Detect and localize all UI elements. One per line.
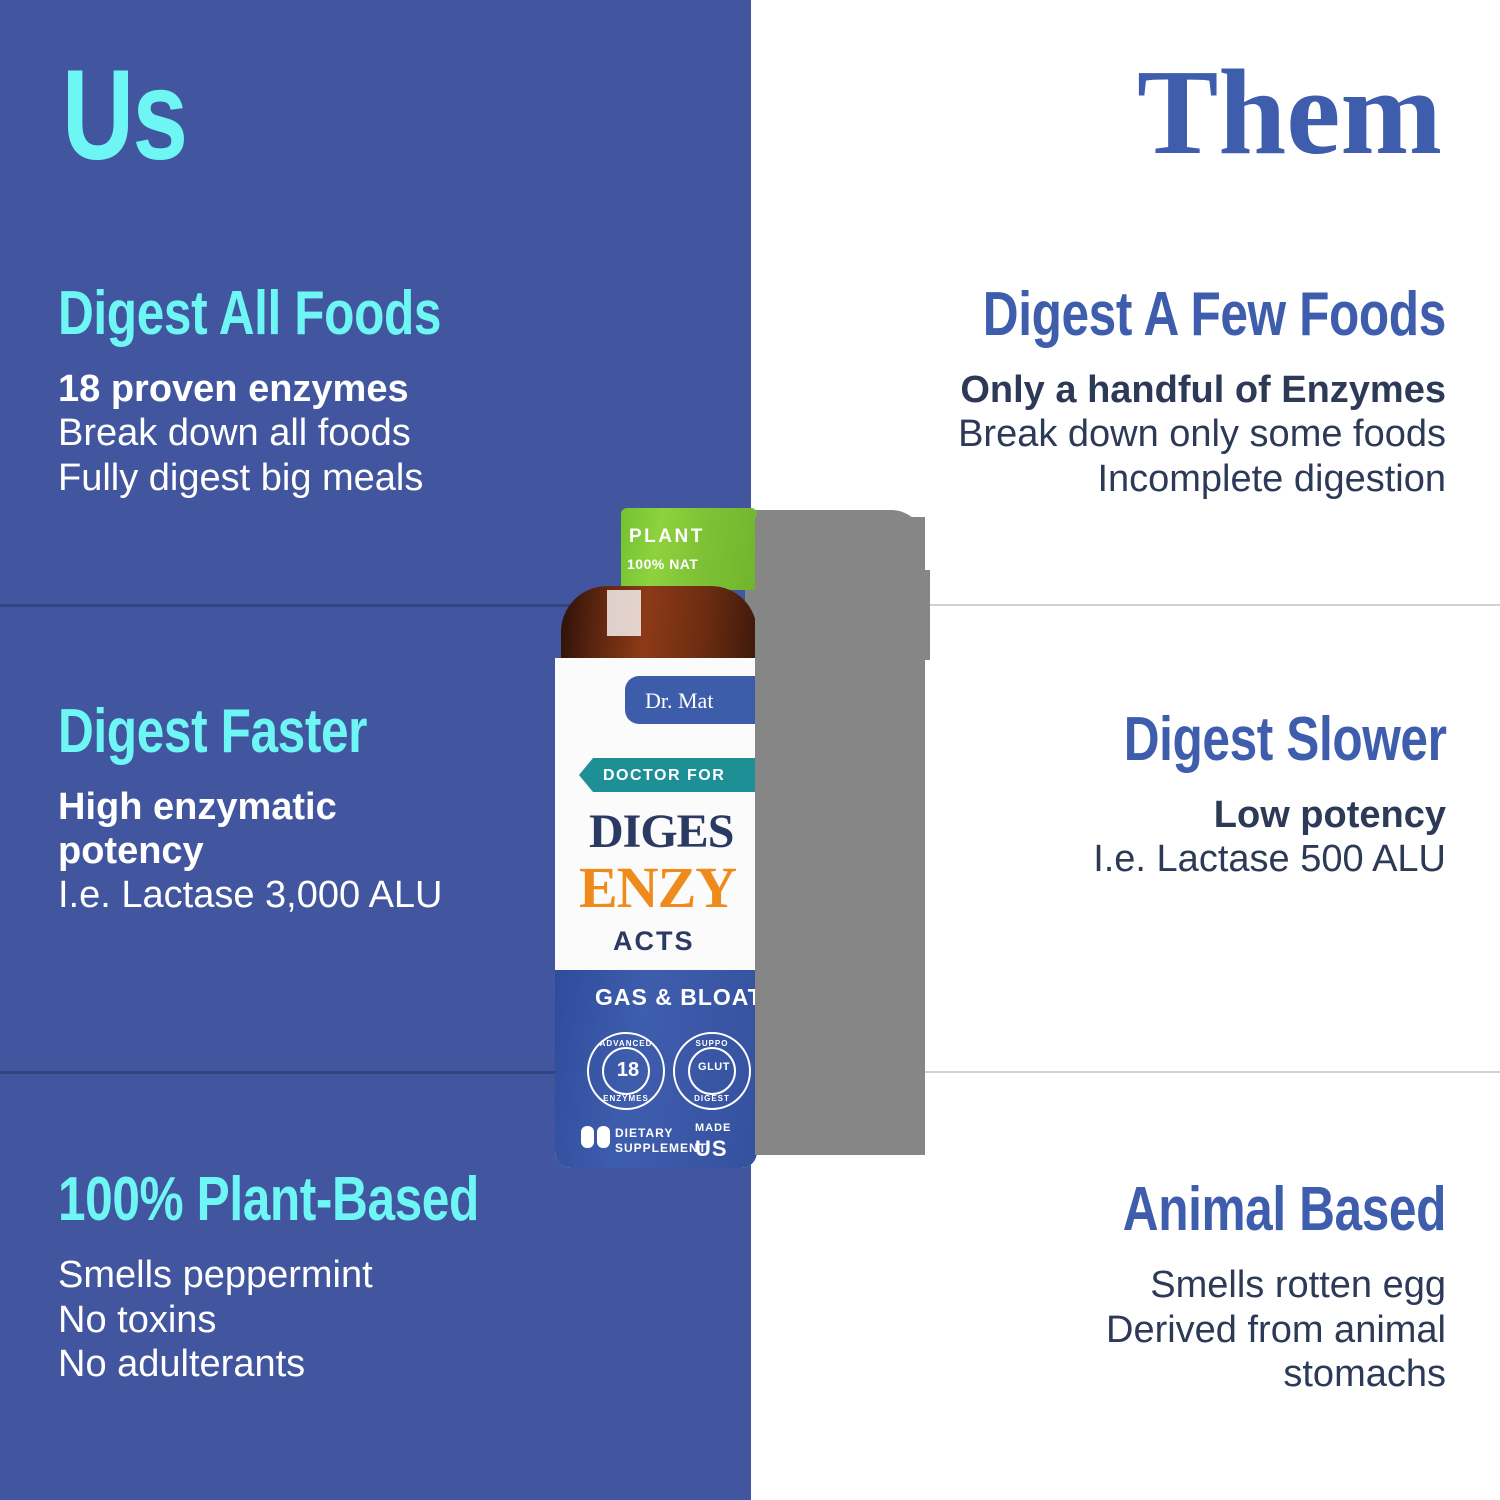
- product-image: PLANT 100% NAT Dr. Mat DOCTOR FOR DIGES …: [540, 500, 960, 1180]
- made-in-text: MADE: [695, 1122, 731, 1134]
- them-feature-1-line-1: Break down only some foods: [867, 412, 1446, 456]
- cap-text-plant: PLANT: [629, 526, 759, 548]
- label-title-digest: DIGES: [589, 804, 733, 859]
- us-feature-3: 100% Plant-Based Smells peppermint No to…: [58, 1168, 584, 1387]
- us-feature-2-heading: Digest Faster: [58, 700, 434, 763]
- seal-1-inner-ring: 18: [602, 1047, 650, 1095]
- them-feature-3: Animal Based Smells rotten egg Derived f…: [886, 1178, 1446, 1397]
- usa-text: US: [695, 1136, 728, 1162]
- them-title: Them: [1137, 52, 1442, 174]
- them-feature-2-line-1: I.e. Lactase 500 ALU: [1043, 837, 1447, 881]
- us-feature-2-bold-2: potency: [58, 829, 528, 873]
- them-feature-1-bold: Only a handful of Enzymes: [867, 368, 1446, 412]
- them-feature-2-heading: Digest Slower: [1123, 708, 1446, 771]
- label-title-enzymes: ENZY: [579, 854, 736, 921]
- us-feature-2-bold: High enzymatic: [58, 785, 528, 829]
- bottle-label: Dr. Mat DOCTOR FOR DIGES ENZY ACTS GAS &…: [555, 658, 757, 1168]
- brand-banner: Dr. Mat: [625, 676, 757, 724]
- gluten-seal-icon: SUPPO GLUT DIGEST: [673, 1032, 751, 1110]
- brand-name: Dr. Mat: [645, 688, 713, 714]
- us-feature-1-line-2: Fully digest big meals: [58, 456, 537, 500]
- us-feature-1-line-1: Break down all foods: [58, 411, 537, 455]
- right-divider-1: [900, 604, 1500, 606]
- comparison-infographic: Us Them Digest All Foods 18 proven enzym…: [0, 0, 1500, 1500]
- seal-2-inner-ring: GLUT: [688, 1047, 736, 1095]
- us-feature-3-line-1: Smells peppermint: [58, 1253, 584, 1297]
- ribbon-text: DOCTOR FOR: [603, 767, 725, 785]
- us-feature-3-heading: 100% Plant-Based: [58, 1168, 479, 1231]
- dietary-line-1: DIETARY: [615, 1126, 707, 1141]
- them-feature-3-heading: Animal Based: [998, 1178, 1446, 1241]
- bottle-glass-highlight: [607, 590, 641, 636]
- label-lower-panel: GAS & BLOAT ADVANCED 18 ENZYMES SUPPO GL…: [555, 970, 757, 1168]
- us-feature-1: Digest All Foods 18 proven enzymes Break…: [58, 282, 537, 500]
- overlay-bottom: [755, 1080, 925, 1155]
- us-feature-1-bold: 18 proven enzymes: [58, 367, 537, 411]
- overlay-main-body: [755, 517, 925, 1155]
- right-divider-2: [900, 1071, 1500, 1073]
- supplement-bottle: PLANT 100% NAT Dr. Mat DOCTOR FOR DIGES …: [555, 508, 755, 1168]
- them-feature-1-line-2: Incomplete digestion: [867, 457, 1446, 501]
- them-feature-3-line-2: Derived from animal: [886, 1308, 1446, 1352]
- them-feature-3-line-1: Smells rotten egg: [886, 1263, 1446, 1307]
- them-feature-2-bold: Low potency: [1043, 793, 1447, 837]
- silhouette-overlay: [755, 500, 960, 1180]
- bottle-cap: [621, 508, 757, 590]
- dietary-supplement-text: DIETARY SUPPLEMENT: [615, 1126, 707, 1156]
- capsule-icon-2: [597, 1126, 610, 1148]
- them-feature-1: Digest A Few Foods Only a handful of Enz…: [867, 283, 1446, 501]
- label-benefit-text: GAS & BLOAT: [595, 984, 757, 1011]
- them-feature-1-heading: Digest A Few Foods: [983, 283, 1446, 346]
- us-feature-1-heading: Digest All Foods: [58, 282, 441, 345]
- us-feature-2: Digest Faster High enzymatic potency I.e…: [58, 700, 528, 918]
- seal-2-mid-text: GLUT: [690, 1061, 738, 1073]
- cap-text-natural: 100% NAT: [627, 556, 759, 572]
- us-feature-3-line-2: No toxins: [58, 1298, 584, 1342]
- us-title: Us: [62, 52, 187, 180]
- seal-1-number: 18: [604, 1059, 652, 1082]
- seal-1-bottom-text: ENZYMES: [589, 1094, 663, 1103]
- seal-2-bottom-text: DIGEST: [675, 1094, 749, 1103]
- label-subtitle-acts: ACTS: [613, 926, 695, 957]
- us-feature-2-line-1: I.e. Lactase 3,000 ALU: [58, 873, 528, 917]
- us-feature-3-line-3: No adulterants: [58, 1342, 584, 1386]
- dietary-line-2: SUPPLEMENT: [615, 1141, 707, 1156]
- doctor-formulated-ribbon: DOCTOR FOR: [593, 758, 757, 792]
- them-feature-3-line-3: stomachs: [886, 1352, 1446, 1396]
- capsule-icon-1: [581, 1126, 594, 1148]
- them-feature-2: Digest Slower Low potency I.e. Lactase 5…: [1043, 708, 1447, 882]
- enzymes-seal-icon: ADVANCED 18 ENZYMES: [587, 1032, 665, 1110]
